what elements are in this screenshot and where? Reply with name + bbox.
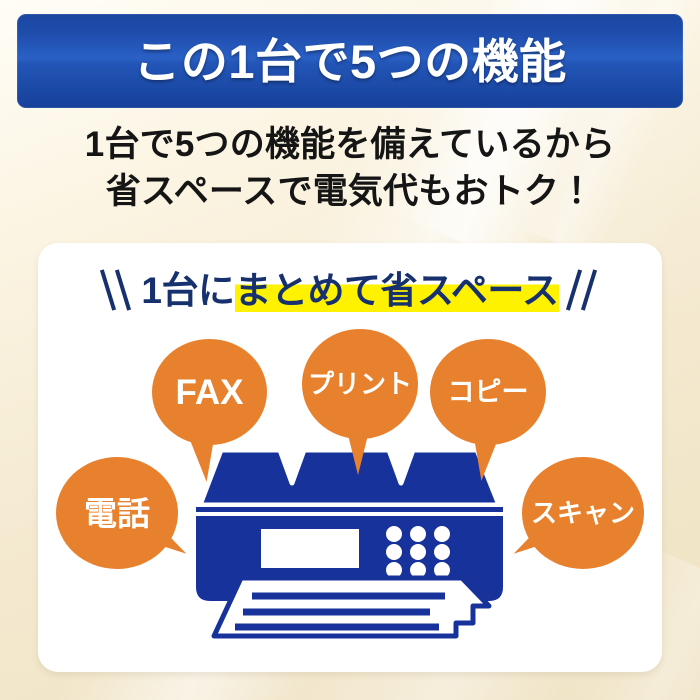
- feature-bubble-copy: コピー: [430, 339, 546, 445]
- feature-card: 1台にまとめて省スペース FAX プリント コピー 電話 スキャン: [38, 243, 662, 672]
- feature-bubble-label: FAX: [175, 375, 243, 410]
- feature-bubble-phone: 電話: [56, 457, 178, 569]
- feature-bubble-label: コピー: [448, 379, 529, 406]
- right-slash-marks-icon: [566, 268, 600, 312]
- feature-bubble-label: 電話: [84, 497, 150, 530]
- banner-title: この1台で5つの機能: [133, 38, 566, 85]
- bubble-tail-icon: [467, 430, 500, 483]
- infographic-root: この1台で5つの機能 1台で5つの機能を備えているから 省スペースで電気代もおト…: [0, 0, 700, 700]
- printer-keypad: [386, 526, 450, 578]
- feature-bubble-print: プリント: [302, 329, 418, 439]
- feature-bubble-label: プリント: [308, 371, 412, 397]
- printer-lid-seam: [196, 507, 503, 512]
- feature-bubble-label: スキャン: [531, 500, 635, 526]
- header-banner: この1台で5つの機能: [17, 14, 683, 108]
- bubble-tail-icon: [346, 427, 370, 475]
- subtitle-line-2: 省スペースで電気代もおトク！: [0, 169, 700, 216]
- subtitle-block: 1台で5つの機能を備えているから 省スペースで電気代もおトク！: [0, 122, 700, 215]
- feature-bubble-fax: FAX: [152, 339, 267, 445]
- feature-bubble-scan: スキャン: [522, 457, 644, 569]
- card-heading-highlight: まとめて省スペース: [235, 270, 559, 312]
- card-heading-prefix: 1台に: [141, 270, 234, 311]
- bubble-tail-icon: [187, 431, 220, 484]
- left-slash-marks-icon: [100, 268, 134, 312]
- subtitle-line-1: 1台で5つの機能を備えているから: [0, 122, 700, 169]
- card-heading-text: 1台にまとめて省スペース: [141, 272, 558, 309]
- printer-display: [261, 529, 359, 568]
- card-heading: 1台にまとめて省スペース: [38, 261, 662, 319]
